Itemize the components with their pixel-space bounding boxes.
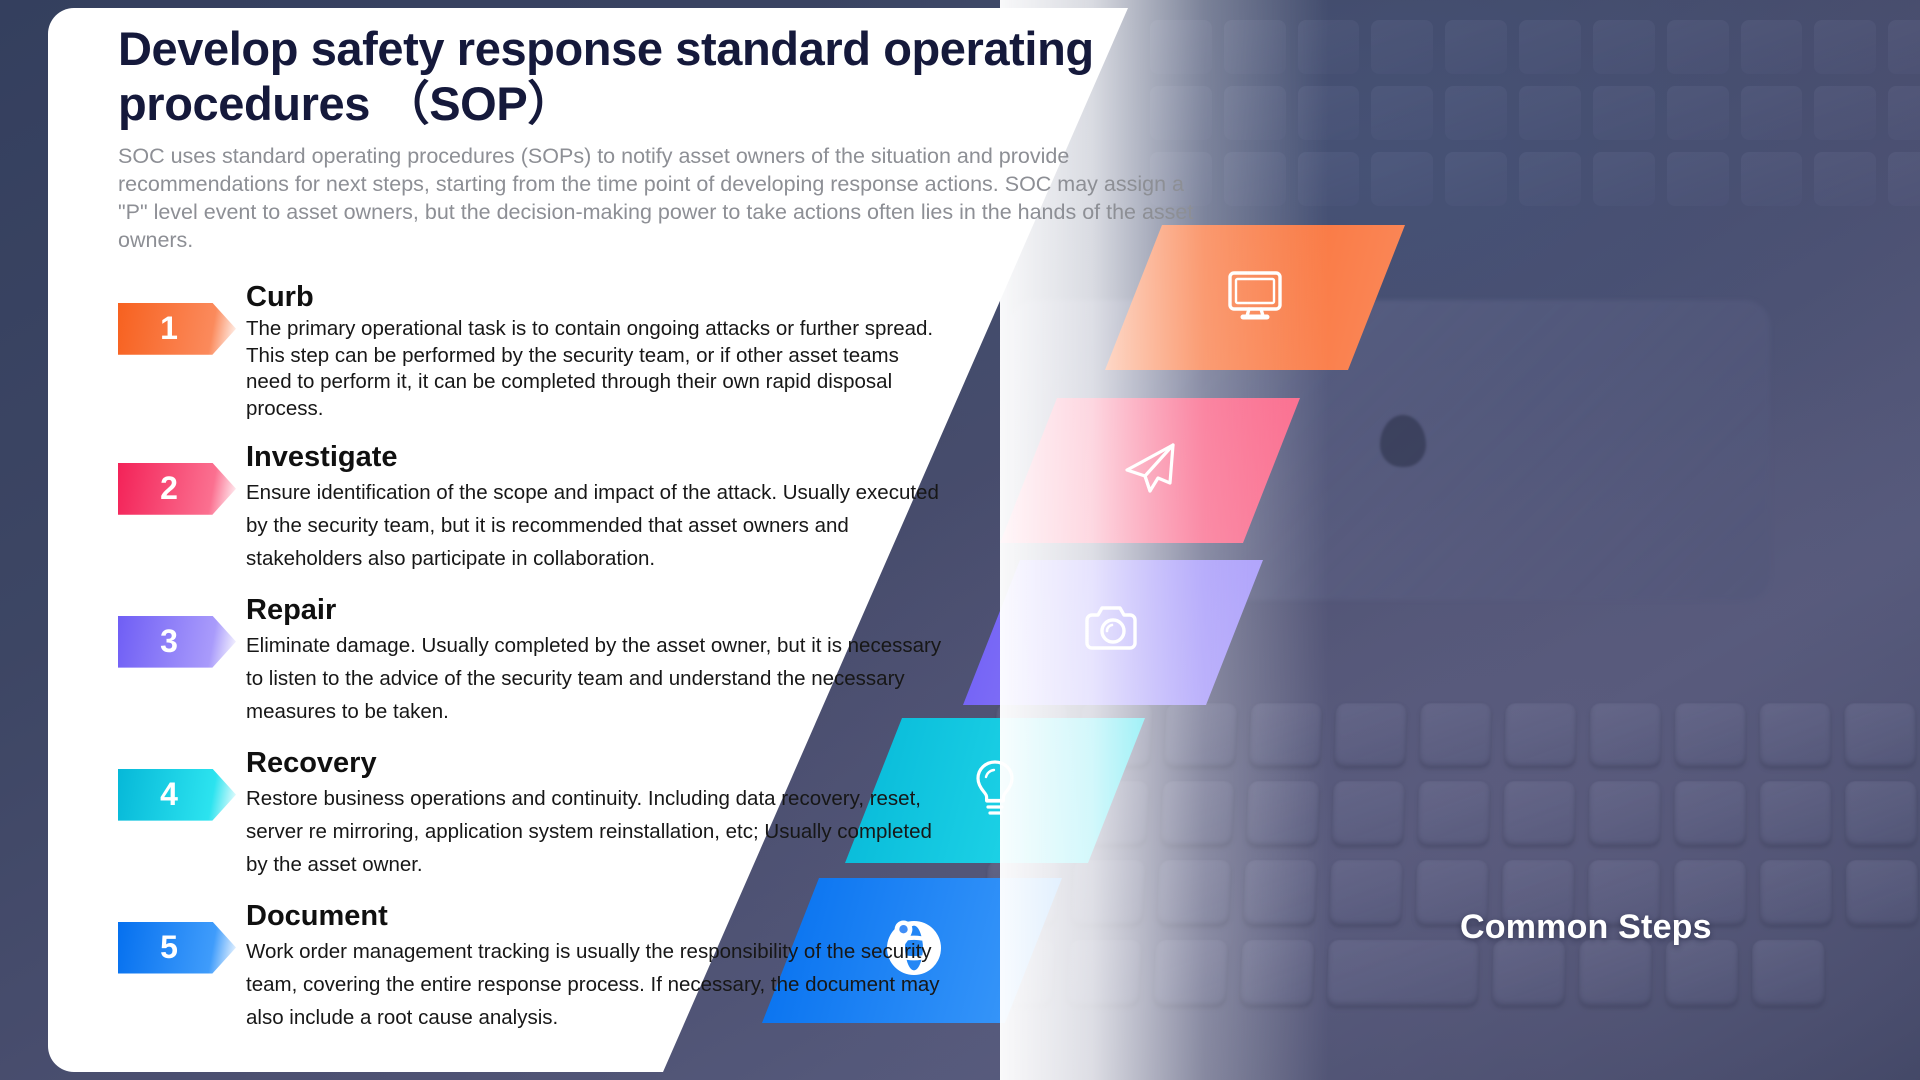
keyboard-row: [1150, 152, 1920, 206]
step-item[interactable]: 3RepairEliminate damage. Usually complet…: [118, 594, 1118, 729]
common-steps-label: Common Steps: [1460, 908, 1712, 947]
step-badge-wrap: 4: [118, 769, 238, 825]
keyboard-key: [1741, 20, 1803, 74]
keyboard-key: [1332, 781, 1405, 846]
keyboard-key: [1888, 152, 1920, 206]
keyboard-key: [1589, 703, 1661, 767]
step-title: Investigate: [246, 441, 998, 474]
keyboard-key: [1445, 20, 1507, 74]
keyboard-key: [1674, 781, 1746, 846]
keyboard-key: [1160, 781, 1234, 846]
keyboard-key: [1334, 703, 1407, 767]
step-title: Recovery: [246, 747, 998, 780]
keyboard-key: [1888, 20, 1920, 74]
keyboard-key: [1371, 20, 1433, 74]
keyboard-key: [1298, 20, 1360, 74]
step-badge-wrap: 3: [118, 616, 238, 672]
step-description: Restore business operations and continui…: [246, 782, 946, 882]
keyboard-key: [1752, 940, 1825, 1007]
keyboard-key: [1519, 152, 1581, 206]
step-title: Repair: [246, 594, 998, 627]
keyboard-key: [1760, 703, 1831, 767]
keyboard-key: [1243, 860, 1317, 926]
keyboard-key: [1246, 781, 1320, 846]
keyboard-key: [1371, 152, 1433, 206]
keyboard-key: [1667, 86, 1729, 140]
keyboard-key: [1153, 940, 1228, 1007]
keyboard-key: [1445, 86, 1507, 140]
keyboard-key: [1249, 703, 1322, 767]
keyboard-key: [1445, 152, 1507, 206]
keyboard-key: [1741, 152, 1803, 206]
keyboard-key: [1760, 860, 1832, 926]
keyboard-key: [1844, 703, 1916, 767]
step-body: RecoveryRestore business operations and …: [238, 747, 998, 882]
content-region: Develop safety response standard operati…: [118, 22, 1118, 1053]
slide-canvas: Develop safety response standard operati…: [0, 0, 1920, 1080]
step-title: Document: [246, 900, 998, 933]
keyboard-key: [1327, 940, 1480, 1007]
keyboard-row: [983, 781, 1920, 846]
keyboard-key: [1675, 703, 1746, 767]
monitor-icon: [1223, 263, 1287, 332]
keyboard-key: [1298, 86, 1360, 140]
keyboard-key: [1492, 940, 1565, 1007]
step-body: CurbThe primary operational task is to c…: [238, 281, 998, 423]
paper-plane-icon: [1118, 436, 1182, 505]
step-item[interactable]: 4RecoveryRestore business operations and…: [118, 747, 1118, 882]
keyboard-key: [1519, 20, 1581, 74]
keyboard-key: [1329, 860, 1403, 926]
keyboard-key: [1741, 86, 1803, 140]
step-badge-wrap: 5: [118, 922, 238, 978]
keyboard-key: [1519, 86, 1581, 140]
keyboard-key: [1667, 20, 1729, 74]
keyboard-key: [1419, 703, 1491, 767]
keyboard-key: [1589, 781, 1661, 846]
step-description: Ensure identification of the scope and i…: [246, 476, 946, 576]
step-item[interactable]: 2InvestigateEnsure identification of the…: [118, 441, 1118, 576]
keyboard-key: [1814, 152, 1876, 206]
keyboard-key: [1593, 86, 1655, 140]
step-item[interactable]: 5DocumentWork order management tracking …: [118, 900, 1118, 1035]
step-description: Eliminate damage. Usually completed by t…: [246, 629, 946, 729]
keyboard-key: [1760, 781, 1832, 846]
keyboard-key: [1371, 86, 1433, 140]
keyboard-key: [1503, 781, 1576, 846]
laptop-logo-shape: [1380, 415, 1426, 467]
keyboard-key: [1814, 20, 1876, 74]
page-title: Develop safety response standard operati…: [118, 22, 1278, 131]
keyboard-key: [1667, 152, 1729, 206]
steps-list: 1CurbThe primary operational task is to …: [118, 281, 1118, 1035]
step-description: Work order management tracking is usuall…: [246, 935, 946, 1035]
keyboard-key: [1164, 703, 1238, 767]
keyboard-key: [1888, 86, 1920, 140]
step-body: RepairEliminate damage. Usually complete…: [238, 594, 998, 729]
keyboard-key: [1593, 20, 1655, 74]
keyboard-key: [1417, 781, 1490, 846]
step-body: InvestigateEnsure identification of the …: [238, 441, 998, 576]
keyboard-key: [1845, 781, 1917, 846]
keyboard-key: [1298, 152, 1360, 206]
step-badge-wrap: 2: [118, 463, 238, 519]
step-item[interactable]: 1CurbThe primary operational task is to …: [118, 281, 1118, 423]
step-badge-wrap: 1: [118, 303, 238, 359]
keyboard-key: [1240, 940, 1315, 1007]
step-description: The primary operational task is to conta…: [246, 316, 946, 423]
keyboard-row: [978, 860, 1920, 926]
keyboard-key: [1846, 860, 1919, 926]
step-body: DocumentWork order management tracking i…: [238, 900, 998, 1035]
page-subtitle: SOC uses standard operating procedures (…: [118, 143, 1203, 255]
keyboard-key: [1157, 860, 1232, 926]
keyboard-key: [1224, 152, 1286, 206]
keyboard-key: [1665, 940, 1738, 1007]
step-title: Curb: [246, 281, 998, 314]
step-number-badge[interactable]: 5: [118, 922, 236, 974]
keyboard-key: [1593, 152, 1655, 206]
step-number-badge[interactable]: 4: [118, 769, 236, 821]
keyboard-key: [1504, 703, 1576, 767]
step-number-badge[interactable]: 2: [118, 463, 236, 515]
step-number-badge[interactable]: 1: [118, 303, 236, 355]
keyboard-key: [1814, 86, 1876, 140]
step-number-badge[interactable]: 3: [118, 616, 236, 668]
keyboard-key: [1579, 940, 1652, 1007]
